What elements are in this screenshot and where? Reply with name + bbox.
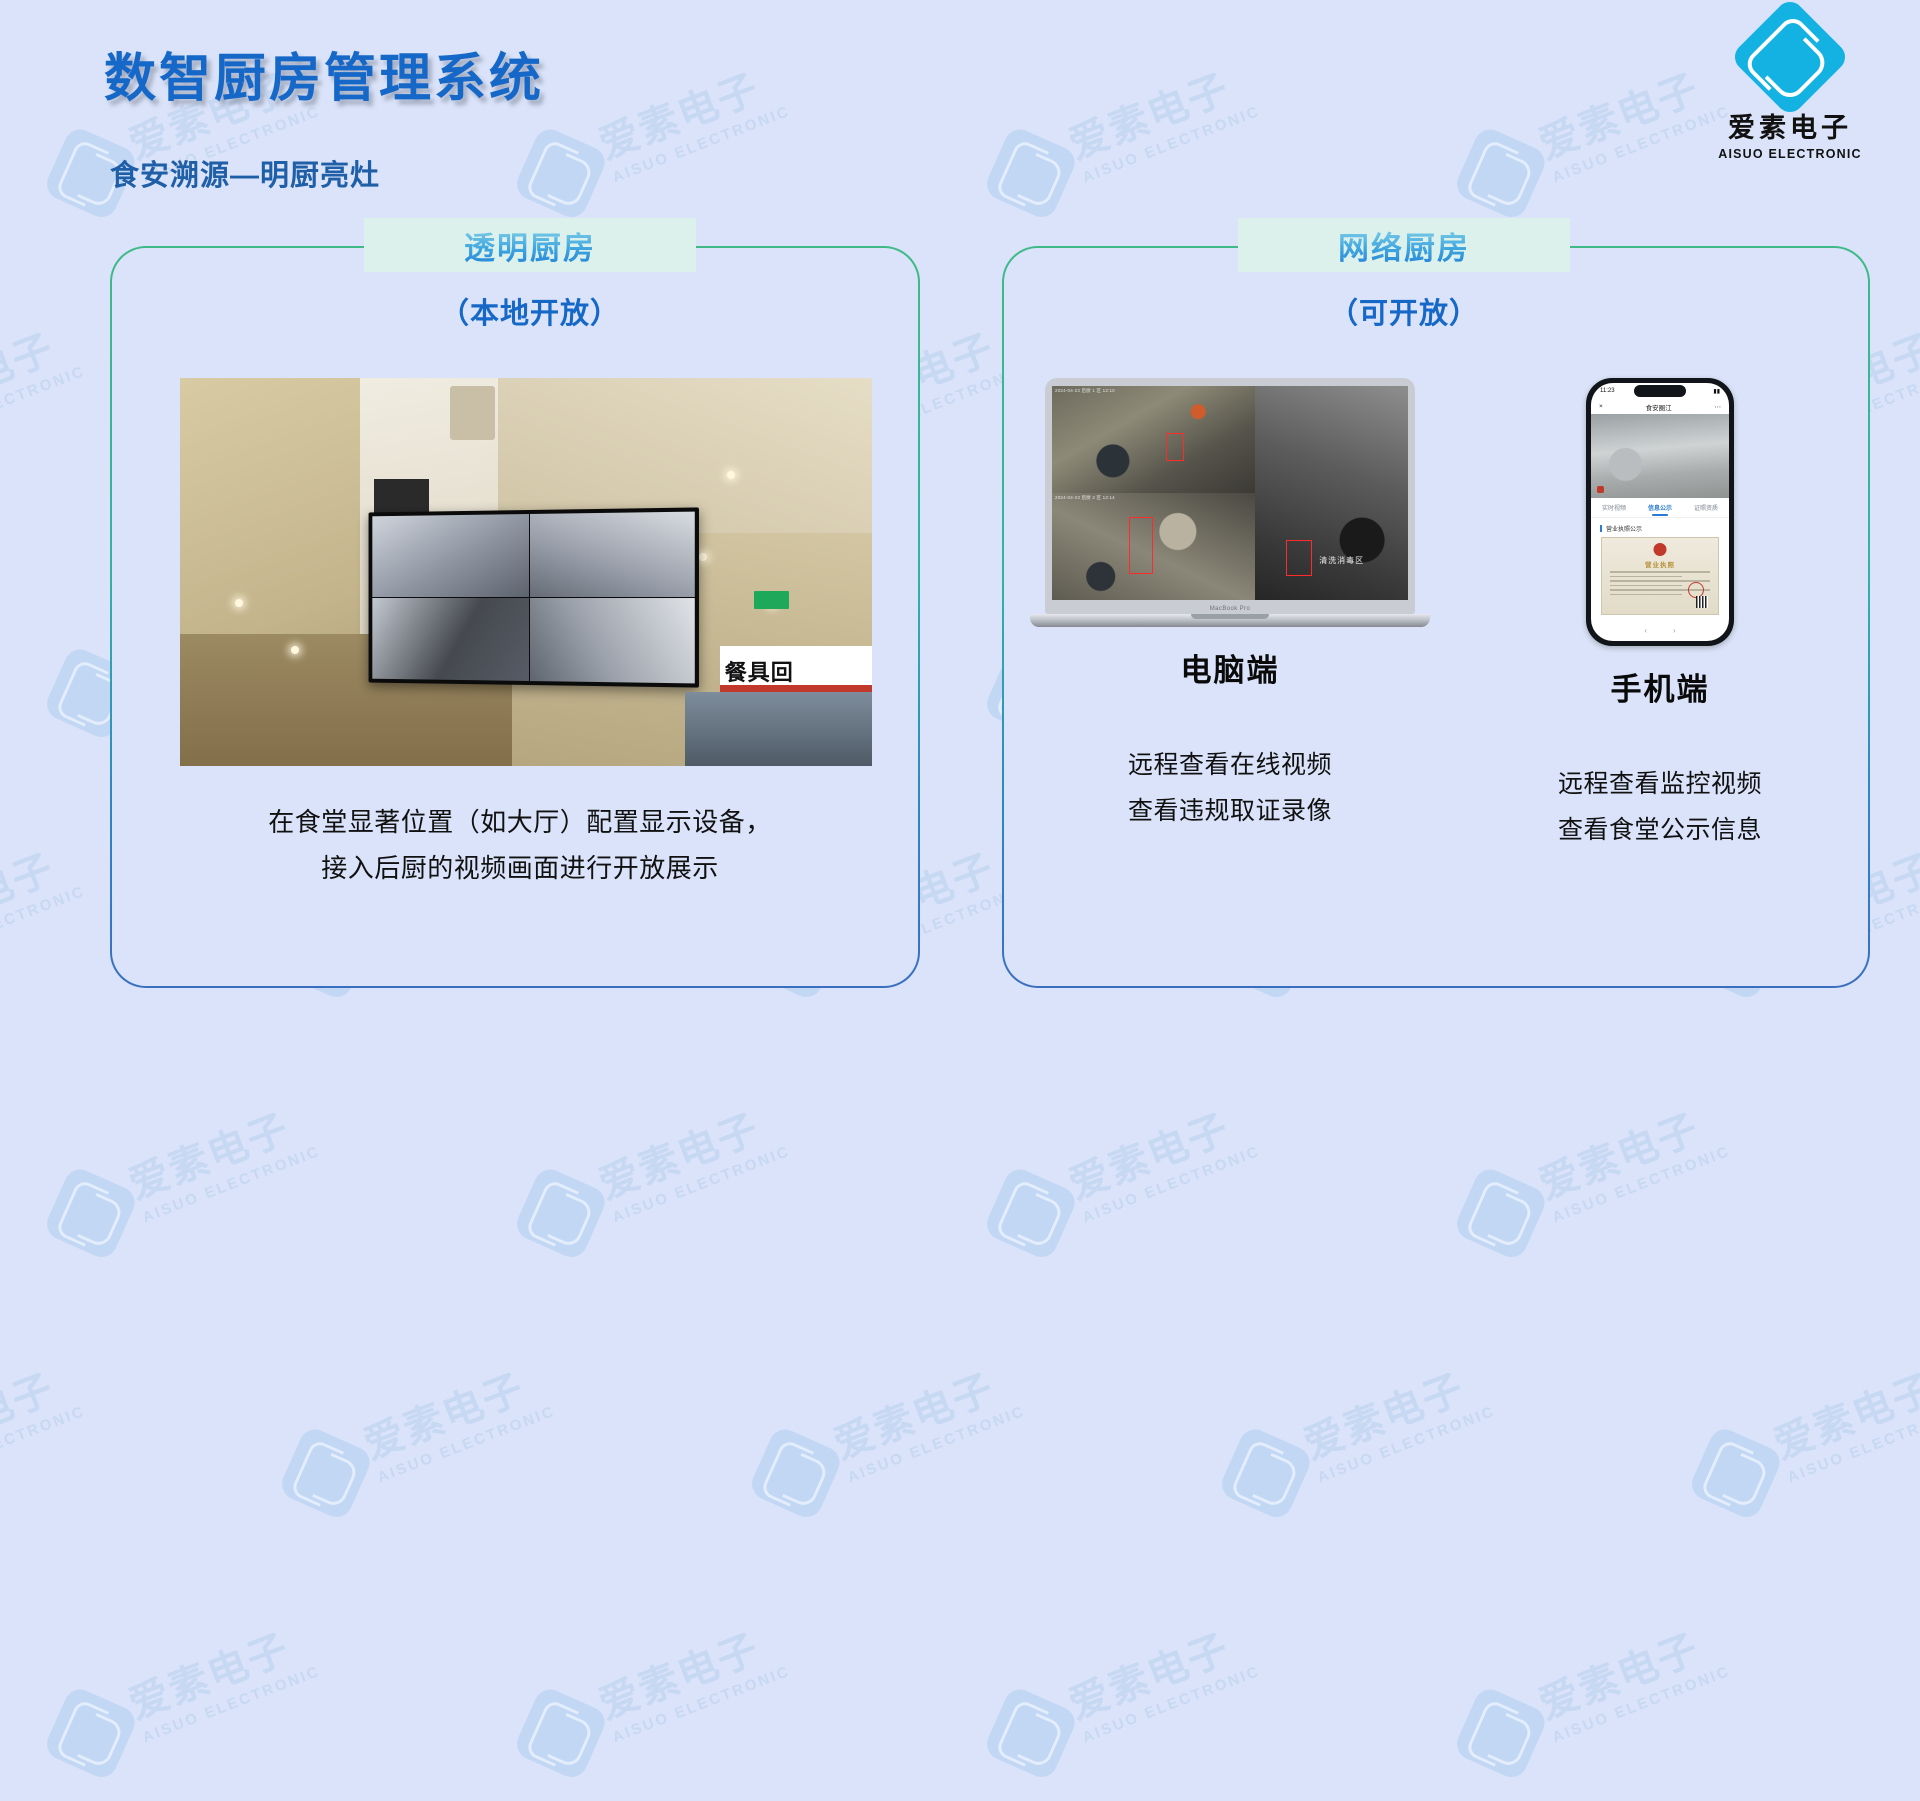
- device-features-pc: 远程查看在线视频 查看违规取证录像: [1020, 742, 1440, 835]
- watermark-logo-icon: [42, 1164, 140, 1262]
- device-label-pc: 电脑端: [1020, 645, 1440, 690]
- watermark-en: AISUO ELECTRONIC: [610, 1663, 792, 1745]
- watermark-logo-icon: [42, 1684, 140, 1782]
- watermark-tile: 爱素电子AISUO ELECTRONIC: [0, 1354, 90, 1521]
- watermark-tile: 爱素电子AISUO ELECTRONIC: [43, 1614, 325, 1781]
- watermark-en: AISUO ELECTRONIC: [1080, 1663, 1262, 1745]
- device-label-mobile: 手机端: [1470, 664, 1850, 709]
- openness-local: （本地开放）: [364, 290, 696, 332]
- device-column-mobile: 11:23 ▮▮ × 食安圈江 ⋯ 实时视频 信息公示 证照资质 营业: [1470, 378, 1850, 854]
- phone-pager: ‹ ›: [1591, 626, 1729, 635]
- photo-cctv-quadrant: [373, 514, 529, 597]
- watermark-cn: 爱素电子: [124, 1100, 315, 1205]
- device-feature-line: 远程查看在线视频: [1020, 742, 1440, 788]
- cafeteria-display-photo: 餐具回: [180, 378, 872, 766]
- phone-live-video[interactable]: [1591, 414, 1729, 498]
- photo-cctv-quadrant: [530, 598, 695, 683]
- watermark-cn: 爱素电子: [594, 1100, 785, 1205]
- status-time: 11:23: [1600, 388, 1615, 394]
- chip-network-kitchen-label: 网络厨房: [1338, 223, 1470, 268]
- photo-downlight: [291, 646, 299, 654]
- photo-cctv-quadrant: [373, 598, 529, 681]
- watermark-tile: 爱素电子AISUO ELECTRONIC: [1453, 1094, 1735, 1261]
- pager-prev-icon[interactable]: ‹: [1644, 626, 1647, 635]
- watermark-en: AISUO ELECTRONIC: [140, 1143, 322, 1225]
- watermark-cn: 爱素电子: [359, 1360, 550, 1465]
- photo-exit-sign-icon: [754, 591, 789, 608]
- watermark-en: AISUO ELECTRONIC: [1550, 1663, 1732, 1745]
- detection-box: [1286, 540, 1312, 576]
- watermark-logo-icon: [1452, 1164, 1550, 1262]
- watermark-tile: 爱素电子AISUO ELECTRONIC: [983, 1614, 1265, 1781]
- device-column-pc: 2024-04-23 后厨 1 区 12:10 2024-04-23 后厨 2 …: [1020, 378, 1440, 835]
- cctv-feed-kitchen-1: 2024-04-23 后厨 1 区 12:10: [1052, 386, 1255, 493]
- watermark-en: AISUO ELECTRONIC: [1315, 1403, 1497, 1485]
- phone-screen: 11:23 ▮▮ × 食安圈江 ⋯ 实时视频 信息公示 证照资质 营业: [1591, 383, 1729, 641]
- watermark-tile: 爱素电子AISUO ELECTRONIC: [513, 1094, 795, 1261]
- aisuo-diamond-logo-icon: [1729, 0, 1851, 118]
- phone-mockup: 11:23 ▮▮ × 食安圈江 ⋯ 实时视频 信息公示 证照资质 营业: [1586, 378, 1734, 646]
- phone-status-bar: 11:23 ▮▮: [1591, 383, 1729, 399]
- watermark-en: AISUO ELECTRONIC: [1550, 1143, 1732, 1225]
- photo-downlight: [727, 471, 735, 479]
- cctv-right-stack: 清洗消毒区: [1255, 386, 1408, 600]
- watermark-logo-icon: [1217, 1424, 1315, 1522]
- cctv-feed-disinfection: 清洗消毒区: [1255, 386, 1408, 600]
- laptop-screen: 2024-04-23 后厨 1 区 12:10 2024-04-23 后厨 2 …: [1045, 378, 1415, 614]
- tab-credentials[interactable]: 证照资质: [1694, 503, 1718, 512]
- watermark-en: AISUO ELECTRONIC: [0, 1403, 87, 1485]
- watermark-tile: 爱素电子AISUO ELECTRONIC: [1453, 1614, 1735, 1781]
- watermark-tile: 爱素电子AISUO ELECTRONIC: [278, 1354, 560, 1521]
- photo-tableware-banner: 餐具回: [720, 646, 872, 696]
- phone-notch: [1634, 385, 1686, 397]
- cctv-feed-kitchen-2: 2024-04-23 后厨 2 区 12:14: [1052, 493, 1255, 600]
- page-subtitle: 食安溯源—明厨亮灶: [110, 152, 380, 194]
- watermark-cn: 爱素电子: [829, 1360, 1020, 1465]
- caption-transparent-kitchen: 在食堂显著位置（如大厅）配置显示设备， 接入后厨的视频画面进行开放展示: [150, 800, 890, 891]
- national-emblem-icon: [1654, 543, 1667, 556]
- laptop-display-content: 2024-04-23 后厨 1 区 12:10 2024-04-23 后厨 2 …: [1052, 386, 1408, 600]
- watermark-en: AISUO ELECTRONIC: [1080, 1143, 1262, 1225]
- watermark-tile: 爱素电子AISUO ELECTRONIC: [748, 1354, 1030, 1521]
- watermark-tile: 爱素电子AISUO ELECTRONIC: [1688, 1354, 1920, 1521]
- page-title: 数智厨房管理系统: [104, 36, 544, 111]
- watermark-cn: 爱素电子: [124, 1620, 315, 1725]
- photo-cctv-quadrant: [530, 511, 695, 596]
- phone-nav-title: 食安圈江: [1646, 402, 1672, 412]
- tab-live[interactable]: 实时视频: [1602, 503, 1626, 512]
- photo-ceiling-speaker-icon: [450, 386, 495, 440]
- logo-company-en: AISUO ELECTRONIC: [1700, 147, 1880, 161]
- cctv-left-stack: 2024-04-23 后厨 1 区 12:10 2024-04-23 后厨 2 …: [1052, 386, 1255, 600]
- phone-nav-bar: × 食安圈江 ⋯: [1591, 399, 1729, 414]
- cert-title: 营业执照: [1602, 559, 1718, 569]
- openness-optional: （可开放）: [1238, 290, 1570, 332]
- chip-network-kitchen: 网络厨房: [1238, 218, 1570, 272]
- watermark-cn: 爱素电子: [1064, 1100, 1255, 1205]
- caption-line-2: 接入后厨的视频画面进行开放展示: [150, 846, 890, 892]
- detection-box: [1166, 433, 1184, 461]
- device-feature-line: 远程查看监控视频: [1470, 761, 1850, 807]
- watermark-en: AISUO ELECTRONIC: [610, 1143, 792, 1225]
- pager-next-icon[interactable]: ›: [1673, 626, 1676, 635]
- close-icon[interactable]: ×: [1599, 403, 1603, 410]
- watermark-cn: 爱素电子: [1064, 1620, 1255, 1725]
- watermark-tile: 爱素电子AISUO ELECTRONIC: [983, 1094, 1265, 1261]
- watermark-cn: 爱素电子: [1769, 1360, 1920, 1465]
- phone-tab-bar: 实时视频 信息公示 证照资质: [1591, 498, 1729, 518]
- watermark-logo-icon: [1687, 1424, 1785, 1522]
- watermark-logo-icon: [512, 1684, 610, 1782]
- watermark-tile: 爱素电子AISUO ELECTRONIC: [1218, 1354, 1500, 1521]
- photo-downlight: [699, 553, 707, 561]
- photo-media-box: [374, 479, 429, 514]
- cctv-timestamp: 2024-04-23 后厨 2 区 12:14: [1055, 495, 1115, 501]
- watermark-logo-icon: [982, 1684, 1080, 1782]
- watermark-cn: 爱素电子: [0, 1360, 80, 1465]
- caption-line-1: 在食堂显著位置（如大厅）配置显示设备，: [150, 800, 890, 846]
- watermark-cn: 爱素电子: [1299, 1360, 1490, 1465]
- watermark-logo-icon: [512, 1164, 610, 1262]
- watermark-logo-icon: [1452, 1684, 1550, 1782]
- device-feature-line: 查看违规取证录像: [1020, 788, 1440, 834]
- watermark-en: AISUO ELECTRONIC: [375, 1403, 557, 1485]
- watermark-logo-icon: [982, 1164, 1080, 1262]
- laptop-mockup: 2024-04-23 后厨 1 区 12:10 2024-04-23 后厨 2 …: [1030, 378, 1430, 627]
- watermark-tile: 爱素电子AISUO ELECTRONIC: [43, 1094, 325, 1261]
- watermark-tile: 爱素电子AISUO ELECTRONIC: [513, 1614, 795, 1781]
- watermark-cn: 爱素电子: [1534, 1100, 1725, 1205]
- chip-transparent-kitchen: 透明厨房: [364, 218, 696, 272]
- section-accent-bar: [1600, 525, 1602, 532]
- device-features-mobile: 远程查看监控视频 查看食堂公示信息: [1470, 761, 1850, 854]
- watermark-logo-icon: [747, 1424, 845, 1522]
- cctv-zone-tag: 清洗消毒区: [1319, 555, 1364, 566]
- watermark-cn: 爱素电子: [594, 1620, 785, 1725]
- watermark-logo-icon: [277, 1424, 375, 1522]
- status-icons: ▮▮: [1713, 388, 1720, 395]
- phone-section-title-label: 营业执照公示: [1606, 524, 1642, 533]
- watermark-en: AISUO ELECTRONIC: [140, 1663, 322, 1745]
- photo-service-counter: [685, 692, 872, 766]
- tab-public-info[interactable]: 信息公示: [1648, 503, 1672, 512]
- qr-code-icon: [1696, 596, 1708, 608]
- chip-transparent-kitchen-label: 透明厨房: [464, 223, 596, 268]
- watermark-cn: 爱素电子: [1534, 1620, 1725, 1725]
- photo-wall-monitor: [369, 507, 700, 687]
- device-feature-line: 查看食堂公示信息: [1470, 807, 1850, 853]
- cctv-timestamp: 2024-04-23 后厨 1 区 12:10: [1055, 388, 1115, 394]
- business-license-image[interactable]: 营业执照: [1601, 537, 1719, 615]
- laptop-base: [1030, 614, 1430, 627]
- watermark-en: AISUO ELECTRONIC: [845, 1403, 1027, 1485]
- phone-section-title: 营业执照公示: [1591, 518, 1729, 537]
- detection-box: [1129, 517, 1153, 575]
- watermark-en: AISUO ELECTRONIC: [1785, 1403, 1920, 1485]
- brand-logo: 爱素电子 AISUO ELECTRONIC: [1700, 14, 1880, 161]
- more-icon[interactable]: ⋯: [1714, 403, 1721, 411]
- laptop-brand-label: MacBook Pro: [1045, 606, 1415, 612]
